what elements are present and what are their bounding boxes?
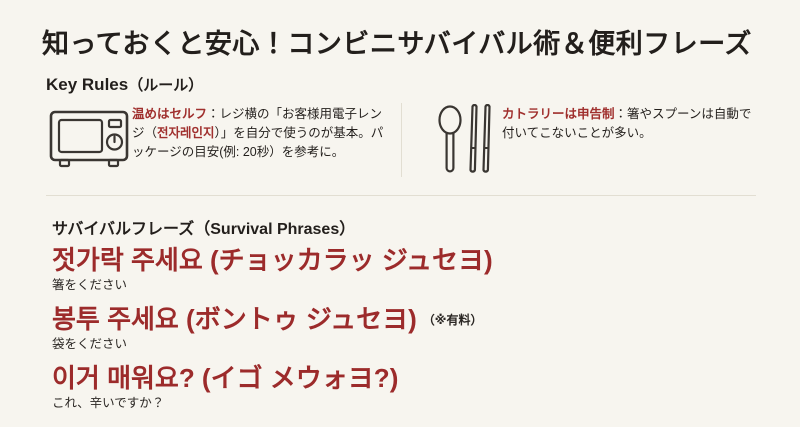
survival-phrase-list: 젓가락 주세요 (チョッカラッ ジュセヨ) 箸をください 봉투 주세요 (ボント… [52,245,752,422]
key-rules-heading-jp: （ルール） [128,77,203,94]
section-divider [46,195,756,196]
phrase-main-text: 이거 매워요? (イゴ メウォヨ?) [52,363,398,393]
survival-phrases-heading-jp: サバイバルフレーズ [52,221,194,238]
microwave-icon [46,103,132,177]
rule-card-microwave: 温めはセルフ：レジ横の「お客様用電子レンジ（전자레인지）」を自分で使うのが基本。… [46,103,402,177]
phrase-main: 봉투 주세요 (ボントゥ ジュセヨ)（※有料） [52,304,752,335]
page-title: 知っておくと安心！コンビニサバイバル術＆便利フレーズ [42,22,752,61]
survival-phrases-heading: サバイバルフレーズ（Survival Phrases） [52,215,355,239]
rule-lead-microwave: 温めはセルフ [132,107,207,121]
rule-body-microwave-korean: 전자레인지 [157,126,215,140]
rule-text-cutlery: カトラリーは申告制：箸やスプーンは自動で付いてこないことが多い。 [502,103,758,143]
rule-text-microwave: 温めはセルフ：レジ横の「お客様用電子レンジ（전자레인지）」を自分で使うのが基本。… [132,103,387,162]
phrase-main-text: 젓가락 주세요 (チョッカラッ ジュセヨ) [52,245,493,275]
phrase-main-text: 봉투 주세요 (ボントゥ ジュセヨ) [52,304,417,334]
phrase-sub: 箸をください [52,277,752,293]
key-rules-row: 温めはセルフ：レジ横の「お客様用電子レンジ（전자레인지）」を自分で使うのが基本。… [46,103,758,191]
rule-lead-cutlery: カトラリーは申告制 [502,107,615,121]
phrase-item: 봉투 주세요 (ボントゥ ジュセヨ)（※有料） 袋をください [52,304,752,352]
cutlery-icon [428,103,502,177]
phrase-note: （※有料） [423,313,483,327]
phrase-main: 젓가락 주세요 (チョッカラッ ジュセヨ) [52,245,752,276]
key-rules-heading: Key Rules（ルール） [46,74,203,95]
survival-phrases-heading-en: （Survival Phrases） [194,221,355,238]
phrase-main: 이거 매워요? (イゴ メウォヨ?) [52,363,752,394]
phrase-sub: これ、辛いですか？ [52,395,752,411]
rule-card-cutlery: カトラリーは申告制：箸やスプーンは自動で付いてこないことが多い。 [402,103,758,177]
phrase-sub: 袋をください [52,336,752,352]
phrase-item: 이거 매워요? (イゴ メウォヨ?) これ、辛いですか？ [52,363,752,411]
infographic-page: 知っておくと安心！コンビニサバイバル術＆便利フレーズ Key Rules（ルール… [0,0,800,427]
phrase-item: 젓가락 주세요 (チョッカラッ ジュセヨ) 箸をください [52,245,752,293]
key-rules-heading-en: Key Rules [46,75,128,94]
